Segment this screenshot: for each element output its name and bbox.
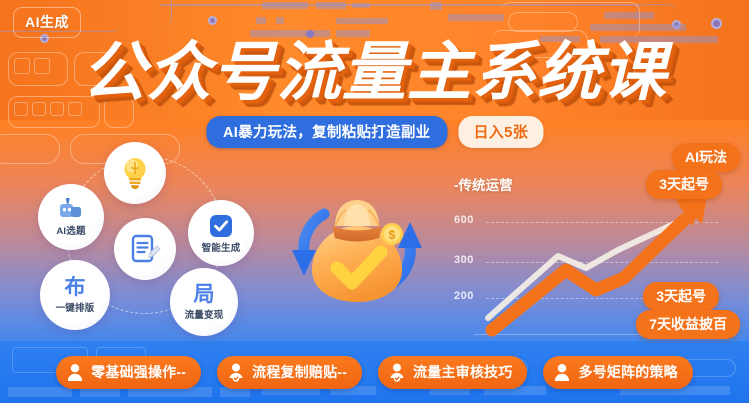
workflow-diagram: AI选题 智能生成 布 一键排版 局 流量变现 [28,142,283,332]
tag-3day-start-2: 3天起号 [643,282,719,311]
workflow-node-glyph: 局 [194,284,215,306]
ai-robot-icon [57,198,85,222]
tag-ai-method: AI玩法 [672,143,740,172]
workflow-node-layout: 布 一键排版 [40,260,110,330]
document-edit-icon [128,233,162,265]
feature-button-process-copy[interactable]: 流程复制赔贴-- [217,356,362,389]
check-square-icon [208,213,234,239]
feature-button-zero-base[interactable]: 零基础强操作-- [56,356,201,389]
workflow-node-document [114,218,176,280]
subtitle-main-pill: AI暴力玩法，复制粘贴打造副业 [206,116,448,148]
promo-banner: AI生成 公众号流量主系统课 AI暴力玩法，复制粘贴打造副业 日入5张 [0,0,749,403]
feature-button-audit-tips[interactable]: 流量主审核技巧 [378,356,527,389]
workflow-node-label: AI选题 [56,223,85,237]
subtitle-side-pill: 日入5张 [458,116,543,148]
money-bag-cycle-icon: $ [282,182,432,317]
feature-button-row: 零基础强操作-- 流程复制赔贴-- 流量主审核技巧 [0,356,749,389]
workflow-node-ai-topic: AI选题 [38,184,104,250]
workflow-node-monetize: 局 流量变现 [170,268,238,336]
ai-generated-badge: AI生成 [13,7,81,38]
workflow-node-label: 流量变现 [185,307,224,321]
money-bag-illustration: $ [282,182,432,317]
person-check-icon [388,363,406,382]
tag-3day-start: 3天起号 [646,170,722,199]
page-title: 公众号流量主系统课 [82,36,667,108]
feature-button-multi-account[interactable]: 多号矩阵的策略 [543,356,692,389]
workflow-node-idea [104,142,166,204]
feature-button-label: 零基础强操作-- [91,362,186,382]
feature-button-label: 多号矩阵的策略 [578,362,677,382]
svg-text:$: $ [389,228,396,242]
feature-button-label: 流量主审核技巧 [413,362,512,382]
tag-7day-income: 7天收益披百 [636,310,740,339]
subtitle-row: AI暴力玩法，复制粘贴打造副业 日入5张 [206,116,543,148]
person-icon [553,363,571,382]
workflow-node-label: 一键排版 [56,300,95,314]
workflow-node-label: 智能生成 [202,240,241,254]
feature-button-label: 流程复制赔贴-- [252,362,347,382]
workflow-node-smart-generate: 智能生成 [188,200,254,266]
person-check-icon [227,363,245,382]
lightbulb-icon [120,156,150,190]
person-icon [66,363,84,382]
workflow-node-glyph: 布 [65,277,86,299]
